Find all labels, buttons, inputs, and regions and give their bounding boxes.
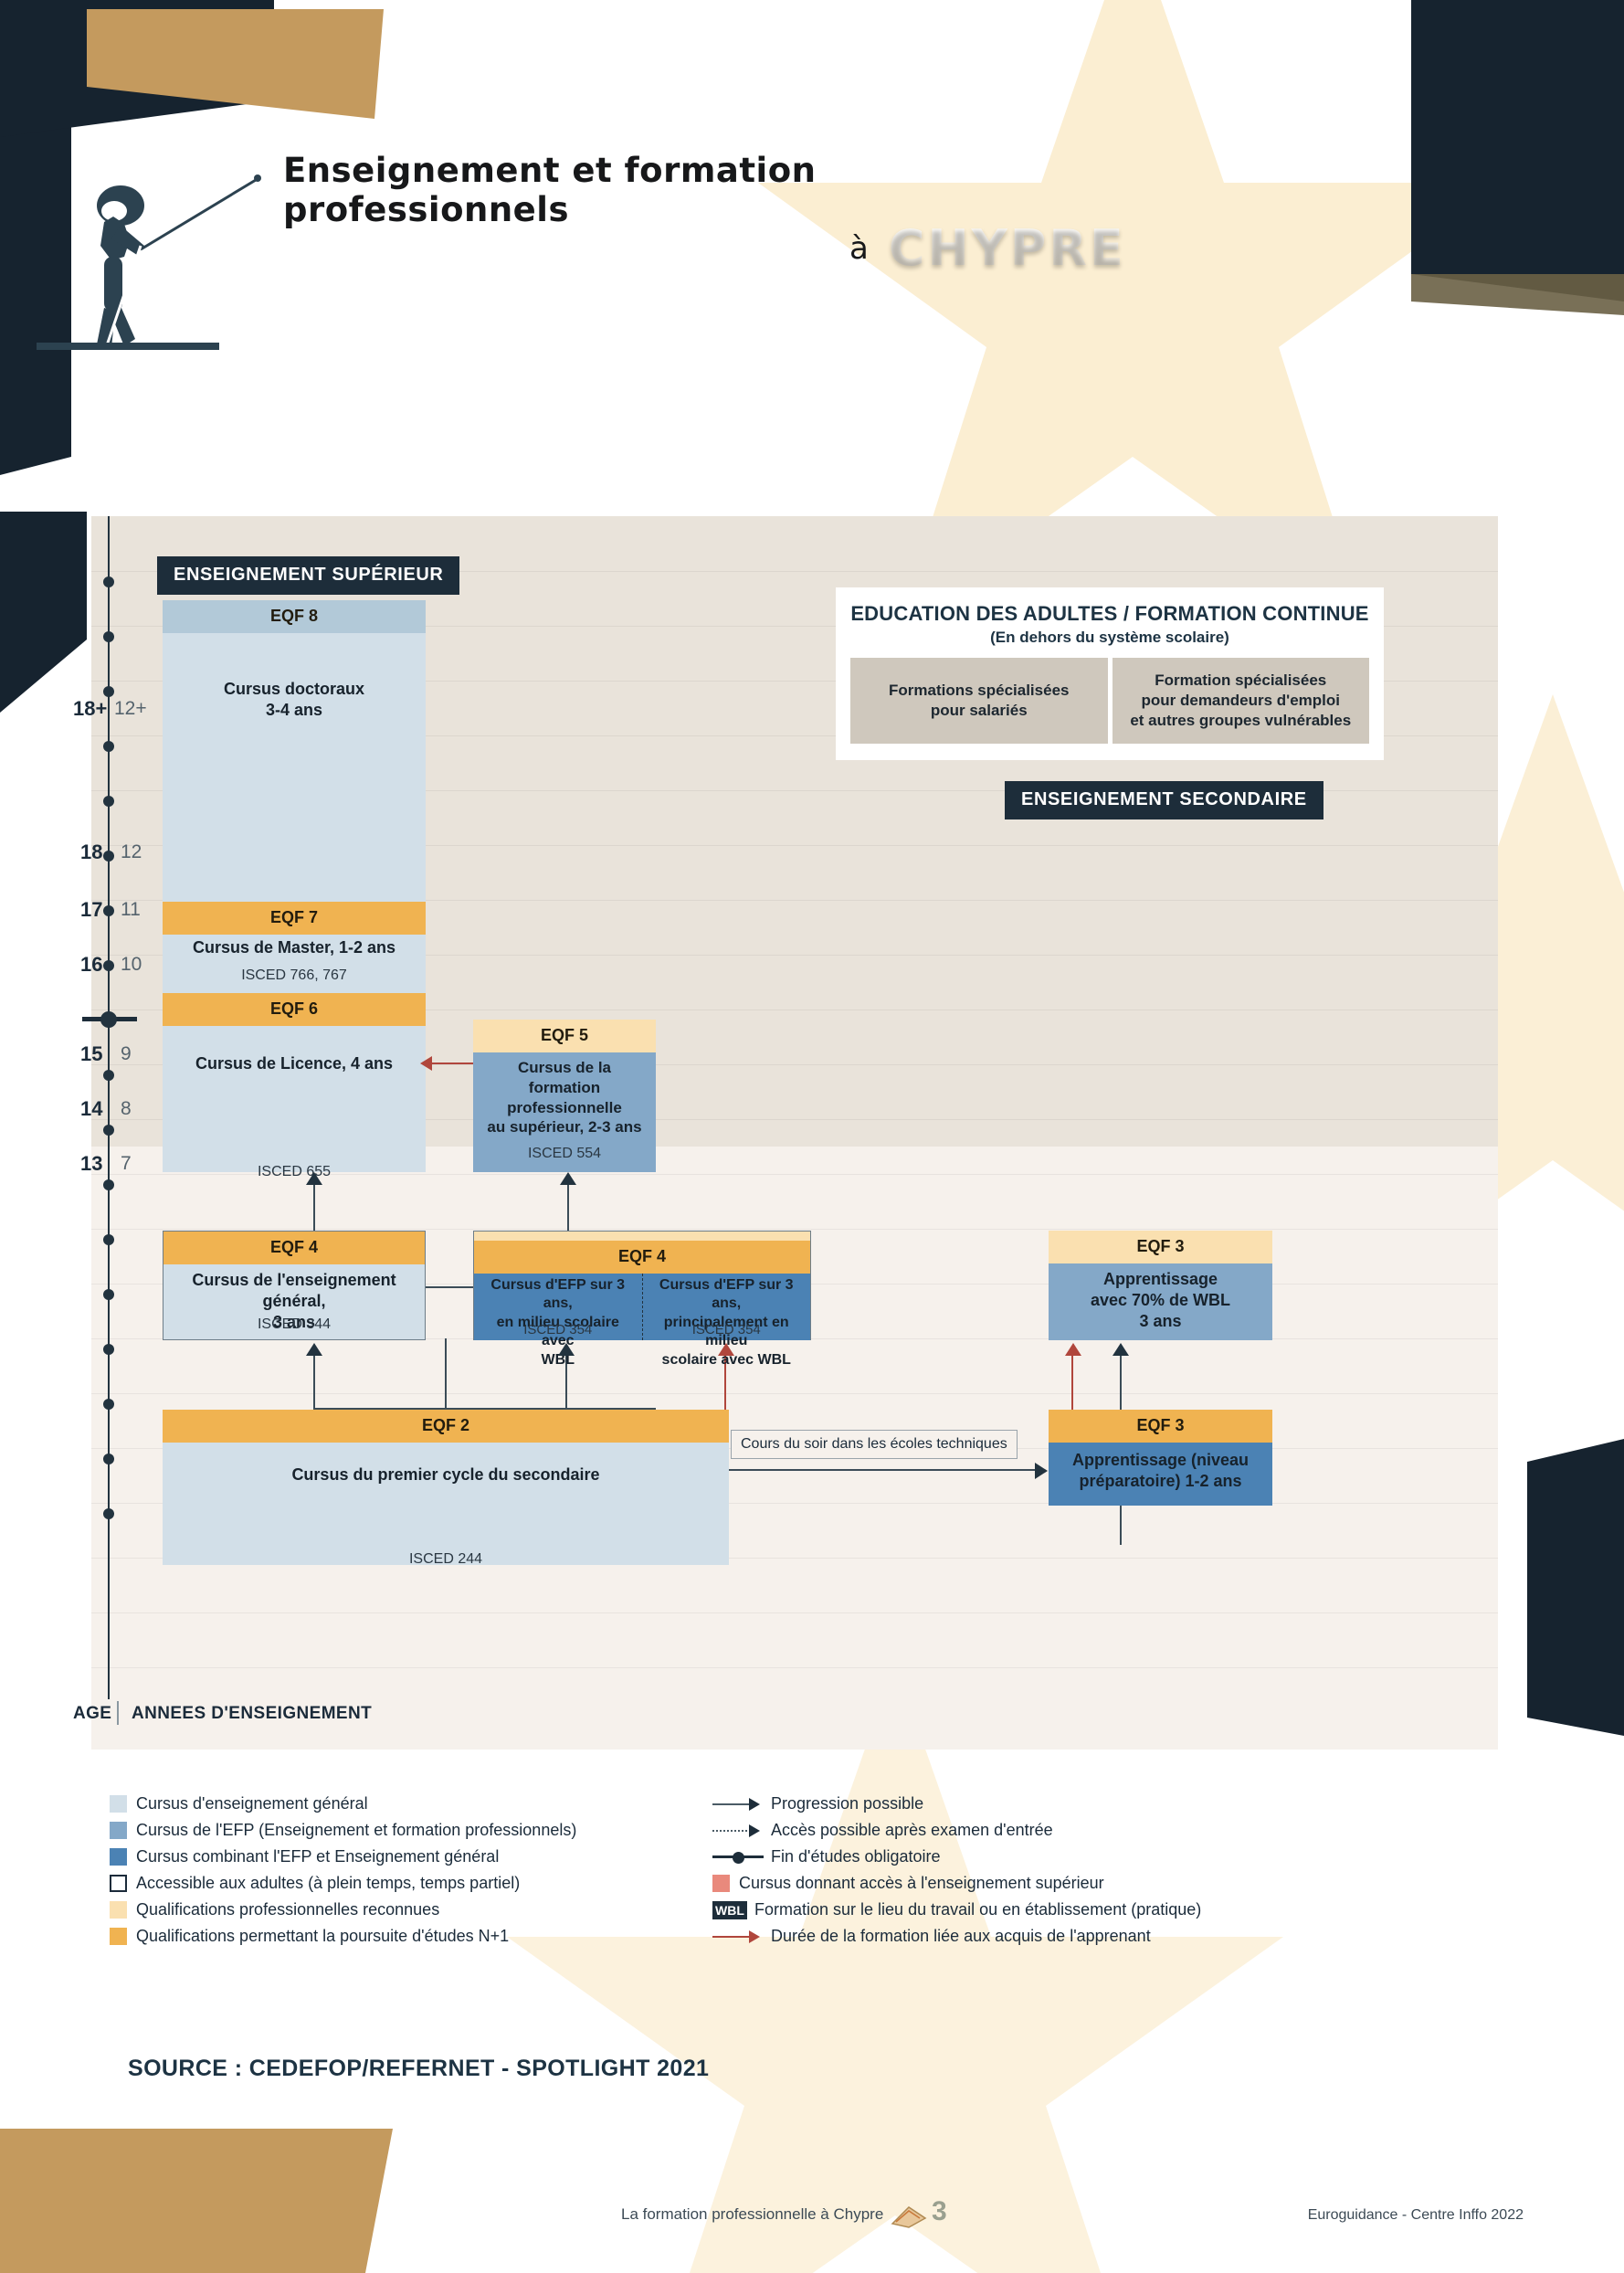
navy-left-wedge bbox=[0, 512, 87, 713]
legend-label: Accès possible après examen d'entrée bbox=[771, 1821, 1053, 1840]
legend-item-progression-qual: Qualifications permettant la poursuite d… bbox=[110, 1923, 804, 1950]
axis-tick-dot bbox=[103, 686, 114, 697]
year-label: 10 bbox=[121, 954, 142, 976]
axis-tick-dot bbox=[103, 905, 114, 916]
compulsory-education-end-dot bbox=[100, 1011, 117, 1028]
apprenticeship-duration-arrow-head bbox=[1065, 1343, 1081, 1356]
book-icon bbox=[891, 2200, 927, 2231]
age-label: 13 bbox=[80, 1152, 102, 1176]
axis-tick-dot bbox=[103, 1179, 114, 1190]
progression-arrow-head bbox=[560, 1172, 576, 1185]
adult-education-cell-employees: Formations spécialisées pour salariés bbox=[850, 658, 1108, 744]
legend-label: Cursus combinant l'EFP et Enseignement g… bbox=[136, 1847, 499, 1866]
age-label: 15 bbox=[80, 1042, 102, 1066]
programme-title: Apprentissage avec 70% de WBL 3 ans bbox=[1049, 1269, 1272, 1332]
progression-arrow-head bbox=[306, 1172, 322, 1185]
programme-box-post-secondary-vet[interactable]: EQF 5 Cursus de la formation professionn… bbox=[473, 1020, 656, 1172]
page-header: Enseignement et formation professionnels… bbox=[0, 0, 1624, 512]
adult-education-cell-jobseekers: Formation spécialisées pour demandeurs d… bbox=[1113, 658, 1370, 744]
progression-arrow-head bbox=[1113, 1343, 1129, 1356]
legend-item-wbl: WBL Formation sur le lieu du travail ou … bbox=[712, 1897, 1516, 1923]
legend-swatch-combined-icon bbox=[110, 1848, 127, 1866]
isced-code: ISCED 655 bbox=[163, 1164, 426, 1180]
age-axis-caption: AGE bbox=[73, 1704, 111, 1724]
age-label: 14 bbox=[80, 1097, 102, 1121]
education-system-diagram: 18+ 12+ 18 12 17 11 16 10 15 9 14 8 13 7… bbox=[91, 516, 1498, 1750]
axis-tick-dot bbox=[103, 1508, 114, 1519]
axis-tick-dot bbox=[103, 960, 114, 971]
axis-tick-dot bbox=[103, 1399, 114, 1410]
footer-page-number: 3 bbox=[932, 2196, 947, 2227]
programme-body: Cursus de la formation professionnelle a… bbox=[473, 1058, 656, 1168]
legend-dotted-arrow-icon bbox=[712, 1822, 764, 1839]
legend-swatch-outline-icon bbox=[110, 1875, 127, 1892]
legend-column-right: Progression possible Accès possible aprè… bbox=[712, 1791, 1516, 1950]
eqf-badge: EQF 7 bbox=[163, 902, 426, 935]
duration-arrow-head bbox=[420, 1056, 432, 1071]
year-label: 7 bbox=[121, 1153, 132, 1175]
age-label: 16 bbox=[80, 953, 102, 977]
legend-swatch-general-icon bbox=[110, 1795, 127, 1813]
programme-box-apprenticeship-preparatory[interactable]: EQF 3 Apprentissage (niveau préparatoire… bbox=[1049, 1410, 1272, 1506]
axis-tick-dot bbox=[103, 1125, 114, 1136]
footer-left-text: La formation professionnelle à Chypre bbox=[621, 2205, 883, 2224]
axis-tick-dot bbox=[103, 631, 114, 642]
legend-label: Durée de la formation liée aux acquis de… bbox=[771, 1927, 1151, 1946]
age-label: 17 bbox=[80, 898, 102, 922]
legend-label: Fin d'études obligatoire bbox=[771, 1847, 941, 1866]
programme-title: Cursus du premier cycle du secondaire bbox=[163, 1464, 729, 1485]
source-text: SOURCE : CEDEFOP/REFERNET - SPOTLIGHT 20… bbox=[128, 2056, 709, 2082]
axis-tick-dot bbox=[103, 1070, 114, 1081]
eqf-badge: EQF 6 bbox=[163, 993, 426, 1026]
programme-title: Cursus de Master, 1-2 ans bbox=[163, 937, 426, 958]
axis-tick-dot bbox=[103, 741, 114, 752]
programme-title: Cursus de Licence, 4 ans bbox=[163, 1053, 426, 1074]
page-footer: La formation professionnelle à Chypre 3 … bbox=[0, 2193, 1624, 2247]
progression-arrow-head bbox=[1035, 1463, 1048, 1479]
legend-item-compulsory-end: Fin d'études obligatoire bbox=[712, 1844, 1516, 1870]
legend-end-of-compulsory-icon bbox=[712, 1848, 764, 1866]
isced-code: ISCED 244 bbox=[163, 1551, 729, 1568]
programme-body: Cursus de l'enseignement général, 3 ans … bbox=[163, 1270, 425, 1337]
legend-swatch-recognised-qual-icon bbox=[110, 1901, 127, 1919]
annotation-evening-classes: Cours du soir dans les écoles techniques bbox=[731, 1430, 1018, 1459]
axis-tick-dot bbox=[103, 1289, 114, 1300]
progression-line bbox=[445, 1338, 447, 1410]
year-label: 12+ bbox=[114, 698, 147, 720]
axis-caption-divider bbox=[117, 1701, 119, 1725]
title-preposition: à bbox=[849, 230, 869, 267]
age-label: 18+ bbox=[73, 697, 107, 721]
axis-tick-dot bbox=[103, 796, 114, 807]
age-label: 18 bbox=[80, 840, 102, 864]
programme-body: Cursus de Licence, 4 ans ISCED 655 bbox=[163, 1053, 426, 1189]
adult-education-box: EDUCATION DES ADULTES / FORMATION CONTIN… bbox=[836, 587, 1384, 760]
axis-tick-dot bbox=[103, 1234, 114, 1245]
year-label: 12 bbox=[121, 841, 142, 863]
eqf-badge: EQF 4 bbox=[474, 1232, 810, 1274]
eqf-badge: EQF 2 bbox=[163, 1410, 729, 1443]
programme-box-vet-eqf4-group[interactable]: EQF 4 Cursus d'EFP sur 3 ans, en milieu … bbox=[473, 1231, 811, 1340]
programme-body: Cursus du premier cycle du secondaire IS… bbox=[163, 1464, 729, 1577]
person-pointing-icon bbox=[84, 169, 312, 370]
year-label: 9 bbox=[121, 1043, 132, 1065]
axis-tick-dot bbox=[103, 1454, 114, 1464]
legend-item-duration: Durée de la formation liée aux acquis de… bbox=[712, 1923, 1516, 1950]
grid-line bbox=[91, 1612, 1498, 1613]
evening-classes-arrow-head bbox=[718, 1343, 734, 1356]
grid-line bbox=[91, 1667, 1498, 1668]
legend-item-entry-exam: Accès possible après examen d'entrée bbox=[712, 1817, 1516, 1844]
axis-tick-dot bbox=[103, 576, 114, 587]
programme-box-general-upper-secondary[interactable]: EQF 4 Cursus de l'enseignement général, … bbox=[163, 1231, 426, 1340]
legend-item-higher-access: Cursus donnant accès à l'enseignement su… bbox=[712, 1870, 1516, 1897]
progression-arrow-head bbox=[306, 1343, 322, 1356]
navy-right-wedge bbox=[1527, 1439, 1624, 1736]
legend-item-general: Cursus d'enseignement général bbox=[110, 1791, 804, 1817]
programme-box-doctorate[interactable]: EQF 8 Cursus doctoraux 3-4 ans ISCED 864 bbox=[163, 600, 426, 902]
axis-tick-dot bbox=[103, 1344, 114, 1355]
country-name: CHYPRE bbox=[889, 219, 1126, 277]
years-axis-caption: ANNEES D'ENSEIGNEMENT bbox=[132, 1704, 372, 1724]
programme-body: Apprentissage avec 70% de WBL 3 ans bbox=[1049, 1269, 1272, 1336]
page-title: Enseignement et formation professionnels bbox=[283, 151, 1105, 229]
section-badge-higher: ENSEIGNEMENT SUPÉRIEUR bbox=[157, 556, 459, 595]
legend-red-arrow-icon bbox=[712, 1928, 764, 1945]
section-badge-secondary: ENSEIGNEMENT SECONDAIRE bbox=[1005, 781, 1323, 819]
eqf-badge: EQF 5 bbox=[473, 1020, 656, 1052]
programme-title: Apprentissage (niveau préparatoire) 1-2 … bbox=[1049, 1450, 1272, 1492]
duration-arrow-line bbox=[429, 1062, 473, 1064]
page-subtitle: à CHYPRE bbox=[849, 219, 1126, 277]
legend-item-recognised-qual: Qualifications professionnelles reconnue… bbox=[110, 1897, 804, 1923]
legend-wbl-badge-icon: WBL bbox=[712, 1901, 747, 1919]
year-label: 11 bbox=[121, 899, 141, 921]
programme-box-vet-mainly-school-wbl[interactable]: Cursus d'EFP sur 3 ans, principalement e… bbox=[643, 1274, 811, 1340]
legend-label: Cursus d'enseignement général bbox=[136, 1794, 368, 1813]
adult-education-title: EDUCATION DES ADULTES / FORMATION CONTIN… bbox=[850, 602, 1369, 626]
eqf-badge: EQF 3 bbox=[1049, 1410, 1272, 1443]
legend-item-progression: Progression possible bbox=[712, 1791, 1516, 1817]
legend-label: Qualifications permettant la poursuite d… bbox=[136, 1927, 509, 1946]
eqf-badge: EQF 8 bbox=[163, 600, 426, 633]
isced-code: ISCED 554 bbox=[473, 1146, 656, 1162]
programme-title: Cursus de la formation professionnelle a… bbox=[473, 1058, 656, 1137]
legend-label: Progression possible bbox=[771, 1794, 923, 1813]
legend-swatch-higher-access-icon bbox=[712, 1875, 730, 1892]
adult-education-subtitle: (En dehors du système scolaire) bbox=[850, 629, 1369, 647]
ledge-decoration bbox=[37, 343, 219, 350]
legend-item-adults: Accessible aux adultes (à plein temps, t… bbox=[110, 1870, 804, 1897]
legend-swatch-vet-icon bbox=[110, 1822, 127, 1839]
progression-line bbox=[313, 1355, 315, 1410]
progression-arrow-head bbox=[558, 1343, 575, 1356]
isced-code: ISCED 354 bbox=[474, 1322, 642, 1337]
year-label: 8 bbox=[121, 1098, 132, 1120]
isced-code: ISCED 344 bbox=[163, 1316, 425, 1333]
adult-education-cells: Formations spécialisées pour salariés Fo… bbox=[850, 658, 1369, 744]
legend-label: Qualifications professionnelles reconnue… bbox=[136, 1900, 439, 1919]
vet-eqf4-subcolumns: Cursus d'EFP sur 3 ans, en milieu scolai… bbox=[474, 1274, 810, 1340]
legend-label: Cursus donnant accès à l'enseignement su… bbox=[739, 1874, 1104, 1893]
programme-body: Cursus doctoraux 3-4 ans ISCED 864 bbox=[163, 679, 426, 937]
legend-arrow-icon bbox=[712, 1795, 764, 1813]
programme-body: Apprentissage (niveau préparatoire) 1-2 … bbox=[1049, 1450, 1272, 1503]
legend-item-vet: Cursus de l'EFP (Enseignement et formati… bbox=[110, 1817, 804, 1844]
programme-box-vet-school-wbl[interactable]: Cursus d'EFP sur 3 ans, en milieu scolai… bbox=[474, 1274, 643, 1340]
programme-box-bachelor[interactable]: EQF 6 Cursus de Licence, 4 ans ISCED 655 bbox=[163, 993, 426, 1172]
eqf-badge: EQF 3 bbox=[1049, 1231, 1272, 1263]
isced-code: ISCED 354 bbox=[643, 1322, 811, 1337]
programme-title: Cursus doctoraux 3-4 ans bbox=[163, 679, 426, 721]
legend-label: Accessible aux adultes (à plein temps, t… bbox=[136, 1874, 520, 1893]
programme-box-master[interactable]: EQF 7 Cursus de Master, 1-2 ans ISCED 76… bbox=[163, 902, 426, 993]
legend-swatch-progression-qual-icon bbox=[110, 1928, 127, 1945]
isced-code: ISCED 766, 767 bbox=[163, 967, 426, 984]
grid-line bbox=[91, 1393, 1498, 1394]
axis-tick-dot bbox=[103, 851, 114, 862]
star-bottom-center bbox=[507, 1663, 1283, 2273]
progression-line bbox=[729, 1469, 1036, 1471]
legend-item-combined: Cursus combinant l'EFP et Enseignement g… bbox=[110, 1844, 804, 1870]
legend-label: Formation sur le lieu du travail ou en é… bbox=[754, 1900, 1201, 1919]
footer-right-text: Euroguidance - Centre Inffo 2022 bbox=[1308, 2207, 1524, 2224]
programme-box-lower-secondary[interactable]: EQF 2 Cursus du premier cycle du seconda… bbox=[163, 1410, 729, 1565]
legend-label: Cursus de l'EFP (Enseignement et formati… bbox=[136, 1821, 576, 1840]
programme-body: Cursus de Master, 1-2 ans ISCED 766, 767 bbox=[163, 937, 426, 986]
eqf-badge: EQF 4 bbox=[163, 1232, 425, 1264]
grid-line bbox=[91, 1229, 1498, 1230]
programme-box-apprenticeship-70-wbl[interactable]: EQF 3 Apprentissage avec 70% de WBL 3 an… bbox=[1049, 1231, 1272, 1340]
legend-column-left: Cursus d'enseignement général Cursus de … bbox=[110, 1791, 804, 1950]
